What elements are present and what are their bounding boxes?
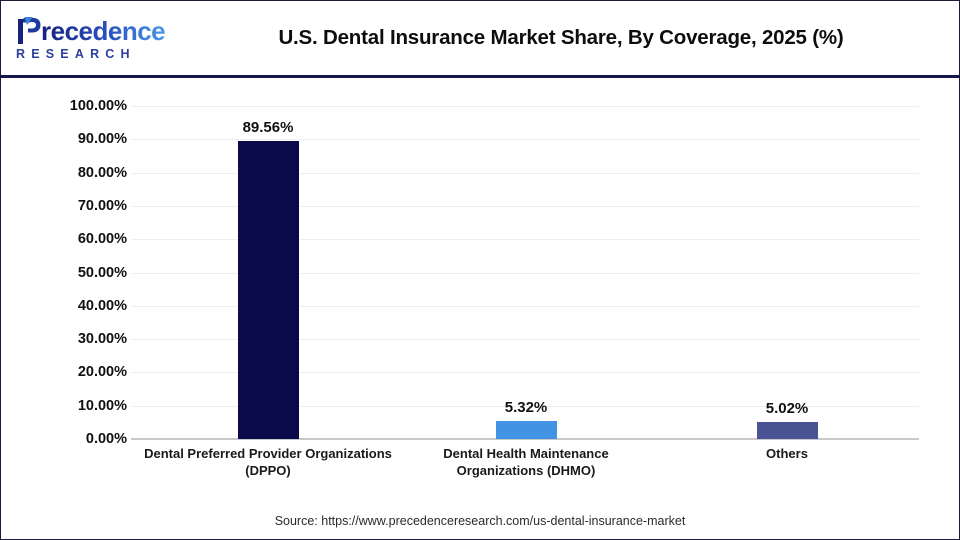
- y-axis-tick-label: 60.00%: [35, 231, 127, 247]
- y-axis-tick-label: 40.00%: [35, 298, 127, 314]
- precedence-research-logo: recedence RESEARCH: [13, 14, 173, 66]
- y-axis-tick-label: 90.00%: [35, 131, 127, 147]
- plot-wrapper: 100.00%90.00%80.00%70.00%60.00%50.00%40.…: [1, 78, 959, 539]
- bar-value-label: 89.56%: [243, 119, 294, 136]
- y-axis-tick-label: 20.00%: [35, 364, 127, 380]
- y-axis-tick-label: 100.00%: [35, 98, 127, 114]
- x-axis-category-label: Dental Health Maintenance Organizations …: [401, 445, 651, 479]
- logo-subtext: RESEARCH: [16, 47, 136, 61]
- y-axis-tick-label: 0.00%: [35, 431, 127, 447]
- bar[interactable]: 89.56%: [238, 141, 299, 439]
- y-axis-tick-label: 50.00%: [35, 265, 127, 281]
- chart-header: recedence RESEARCH U.S. Dental Insurance…: [1, 1, 959, 78]
- bar-value-label: 5.32%: [505, 399, 548, 416]
- y-axis-tick-label: 30.00%: [35, 331, 127, 347]
- y-axis-tick-label: 10.00%: [35, 398, 127, 414]
- y-axis-tick-label: 70.00%: [35, 198, 127, 214]
- chart-page: recedence RESEARCH U.S. Dental Insurance…: [0, 0, 960, 540]
- bar[interactable]: 5.32%: [496, 421, 557, 439]
- page-title: U.S. Dental Insurance Market Share, By C…: [181, 1, 941, 75]
- bar-rect: [496, 421, 557, 439]
- source-note: Source: https://www.precedenceresearch.c…: [1, 514, 959, 528]
- y-axis-tick-label: 80.00%: [35, 165, 127, 181]
- x-axis-category-label: Others: [662, 445, 912, 462]
- bar[interactable]: 5.02%: [757, 422, 818, 439]
- gridline: [131, 106, 919, 107]
- x-axis-category-label: Dental Preferred Provider Organizations …: [143, 445, 393, 479]
- plot-area: 89.56%5.32%5.02%: [131, 106, 919, 439]
- bar-rect: [757, 422, 818, 439]
- y-axis: 100.00%90.00%80.00%70.00%60.00%50.00%40.…: [31, 106, 127, 439]
- svg-text:recedence: recedence: [41, 16, 165, 46]
- bar-rect: [238, 141, 299, 439]
- bar-value-label: 5.02%: [766, 400, 809, 417]
- logo-wordmark-icon: recedence: [13, 14, 173, 48]
